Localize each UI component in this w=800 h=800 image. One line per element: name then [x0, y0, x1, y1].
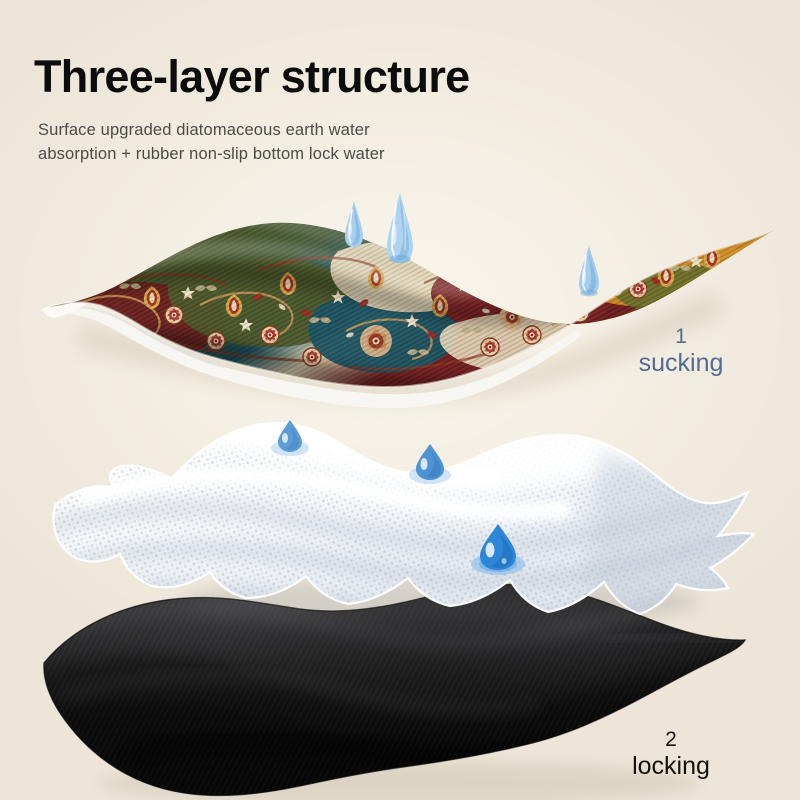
callout-sucking-label: sucking	[616, 349, 746, 377]
poster-root: Three-layer structure Surface upgraded d…	[0, 0, 800, 800]
callout-locking: 2 locking	[606, 728, 736, 780]
callout-sucking: 1 sucking	[616, 325, 746, 377]
callout-sucking-number: 1	[616, 325, 746, 349]
layer-top-carpet	[20, 185, 790, 420]
callout-locking-label: locking	[606, 752, 736, 780]
subtitle-line-1: Surface upgraded diatomaceous earth wate…	[38, 121, 370, 139]
page-title: Three-layer structure	[34, 54, 469, 99]
subtitle-line-2: absorption + rubber non-slip bottom lock…	[38, 143, 468, 167]
header-text-block: Three-layer structure Surface upgraded d…	[34, 54, 469, 167]
callout-locking-number: 2	[606, 728, 736, 752]
page-subtitle: Surface upgraded diatomaceous earth wate…	[38, 119, 468, 167]
